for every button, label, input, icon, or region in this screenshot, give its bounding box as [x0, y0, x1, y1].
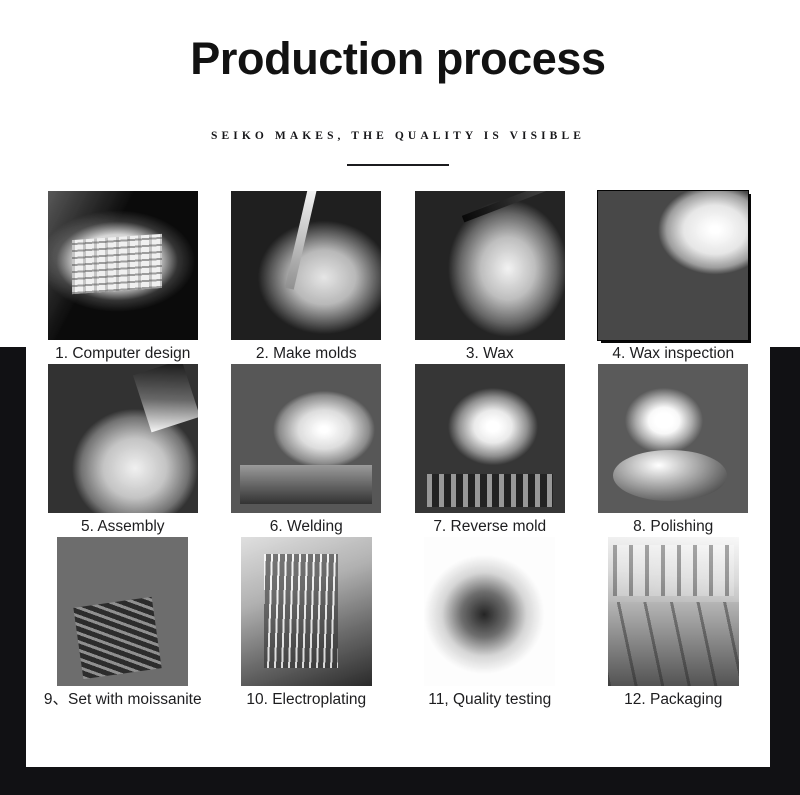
- step-caption: 7. Reverse mold: [433, 517, 546, 536]
- process-step-12: 12. Packaging: [585, 537, 763, 710]
- set-with-moissanite-photo: [57, 537, 188, 687]
- assembly-photo: [48, 364, 198, 514]
- wax-inspection-image: [598, 191, 748, 341]
- computer-design-photo: [48, 191, 198, 341]
- electroplating-image: [241, 537, 372, 687]
- quality-testing-image: [424, 537, 555, 687]
- process-step-8: 8. Polishing: [585, 364, 763, 537]
- process-step-10: 10. Electroplating: [218, 537, 396, 710]
- step-caption: 2. Make molds: [256, 344, 357, 363]
- step-caption: 6. Welding: [270, 517, 343, 536]
- right-frame-band: [770, 347, 800, 795]
- process-step-9: 9、Set with moissanite: [34, 537, 212, 710]
- step-caption: 1. Computer design: [55, 344, 190, 363]
- step-caption: 9、Set with moissanite: [44, 690, 202, 709]
- computer-design-image: [48, 191, 198, 341]
- electroplating-photo: [241, 537, 372, 687]
- reverse-mold-photo: [415, 364, 565, 514]
- packaging-image: [608, 537, 739, 687]
- title-divider: [347, 164, 449, 166]
- polishing-image: [598, 364, 748, 514]
- wax-photo: [415, 191, 565, 341]
- process-step-6: 6. Welding: [218, 364, 396, 537]
- process-step-3: 3. Wax: [401, 191, 579, 364]
- bottom-frame-band: [0, 767, 800, 795]
- assembly-image: [48, 364, 198, 514]
- process-step-11: 11, Quality testing: [401, 537, 579, 710]
- quality-testing-photo: [424, 537, 555, 687]
- process-step-1: 1. Computer design: [34, 191, 212, 364]
- wax-image: [415, 191, 565, 341]
- welding-image: [231, 364, 381, 514]
- process-step-2: 2. Make molds: [218, 191, 396, 364]
- make-molds-photo: [231, 191, 381, 341]
- polishing-photo: [598, 364, 748, 514]
- reverse-mold-image: [415, 364, 565, 514]
- packaging-photo: [608, 537, 739, 687]
- process-steps-grid: 1. Computer design 2. Make molds 3. Wax …: [26, 191, 770, 710]
- make-molds-image: [231, 191, 381, 341]
- welding-photo: [231, 364, 381, 514]
- header: Production process SEIKO MAKES, THE QUAL…: [26, 0, 770, 166]
- step-caption: 10. Electroplating: [246, 690, 366, 709]
- process-step-7: 7. Reverse mold: [401, 364, 579, 537]
- left-frame-band: [0, 347, 26, 795]
- process-step-4: 4. Wax inspection: [585, 191, 763, 364]
- process-step-5: 5. Assembly: [34, 364, 212, 537]
- page-subtitle: SEIKO MAKES, THE QUALITY IS VISIBLE: [26, 130, 770, 142]
- step-caption: 8. Polishing: [633, 517, 713, 536]
- set-with-moissanite-image: [57, 537, 188, 687]
- content-sheet: Production process SEIKO MAKES, THE QUAL…: [26, 0, 770, 767]
- step-caption: 11, Quality testing: [428, 690, 551, 709]
- step-caption: 3. Wax: [466, 344, 514, 363]
- step-caption: 12. Packaging: [624, 690, 722, 709]
- step-caption: 4. Wax inspection: [612, 344, 734, 363]
- step-caption: 5. Assembly: [81, 517, 165, 536]
- page-title: Production process: [26, 34, 770, 84]
- wax-inspection-photo: [598, 191, 748, 341]
